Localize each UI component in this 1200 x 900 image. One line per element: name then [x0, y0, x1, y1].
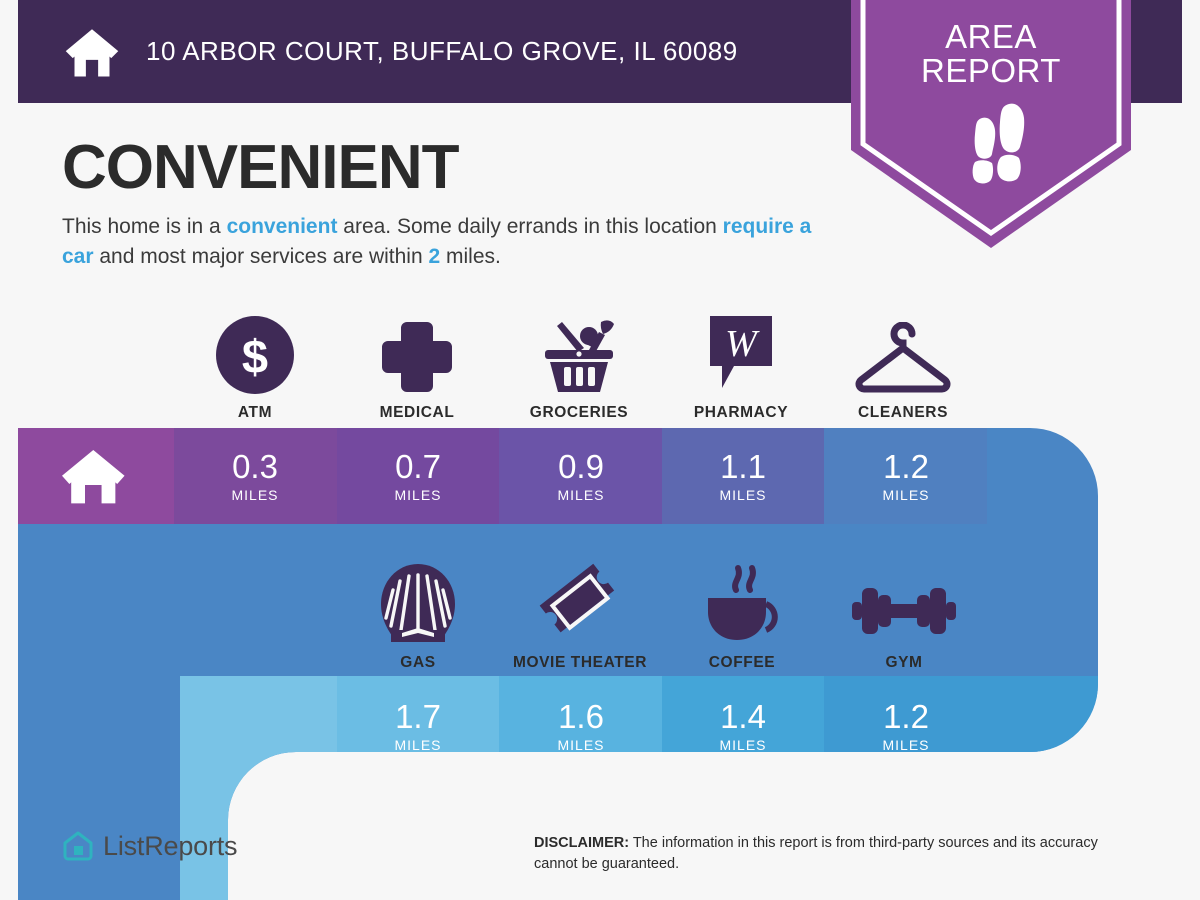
ribbon-seg-groceries	[499, 420, 662, 524]
service-gas[interactable]: GAS	[337, 560, 499, 672]
service-movie-theater[interactable]: MOVIE THEATER	[499, 560, 661, 672]
medical-cross-icon	[380, 310, 454, 394]
home-icon	[64, 24, 120, 80]
service-coffee[interactable]: COFFEE	[661, 560, 823, 672]
service-label: CLEANERS	[858, 404, 948, 422]
desc-part2: area. Some daily errands in this locatio…	[337, 215, 722, 238]
disclaimer-label: DISCLAIMER:	[534, 835, 629, 851]
atm-dollar-icon: $	[216, 310, 294, 394]
service-label: GROCERIES	[530, 404, 628, 422]
ribbon-seg-atm	[174, 420, 337, 524]
grocery-basket-icon	[537, 310, 621, 394]
desc-part4: miles.	[440, 245, 501, 268]
services-icon-row-2: GAS MOVIE THEATER	[337, 560, 985, 672]
badge-title-line1: AREA	[851, 20, 1131, 54]
shell-gas-icon	[379, 560, 457, 644]
service-label: MOVIE THEATER	[513, 654, 647, 672]
ribbon-seg-coffee	[662, 676, 824, 786]
service-label: GAS	[400, 654, 435, 672]
page-title: CONVENIENT	[62, 132, 458, 203]
ribbon-seg-turn-left	[180, 676, 337, 786]
ribbon-seg-medical	[337, 420, 499, 524]
service-pharmacy[interactable]: W PHARMACY	[660, 310, 822, 422]
badge-title-line2: REPORT	[851, 54, 1131, 88]
pharmacy-w-icon: W	[708, 310, 774, 394]
ribbon-seg-pharmacy	[662, 420, 824, 524]
desc-highlight-miles: 2	[429, 245, 441, 268]
listreports-logo-icon	[62, 830, 94, 862]
desc-part1: This home is in a	[62, 215, 227, 238]
service-label: COFFEE	[709, 654, 775, 672]
service-groceries[interactable]: GROCERIES	[498, 310, 660, 422]
brand-name: ListReports	[103, 831, 237, 862]
dumbbell-icon	[852, 560, 956, 644]
ribbon-seg-gym-b	[824, 676, 987, 786]
services-icon-row-1: $ ATM MEDICAL	[174, 310, 984, 422]
service-cleaners[interactable]: CLEANERS	[822, 310, 984, 422]
description-text: This home is in a convenient area. Some …	[62, 212, 822, 272]
area-report-page: 10 ARBOR COURT, BUFFALO GROVE, IL 60089 …	[0, 0, 1200, 900]
service-label: ATM	[238, 404, 272, 422]
clothes-hanger-icon	[851, 310, 955, 394]
badge-title: AREA REPORT	[851, 20, 1131, 87]
service-gym[interactable]: GYM	[823, 560, 985, 672]
ribbon-seg-movie	[499, 676, 662, 786]
coffee-cup-icon	[702, 560, 782, 644]
service-label: PHARMACY	[694, 404, 788, 422]
svg-text:W: W	[725, 323, 760, 365]
svg-text:$: $	[242, 330, 268, 383]
desc-part3: and most major services are within	[94, 245, 429, 268]
movie-ticket-icon	[538, 560, 622, 644]
area-report-badge: AREA REPORT	[851, 0, 1131, 248]
service-label: GYM	[885, 654, 922, 672]
disclaimer: DISCLAIMER: The information in this repo…	[534, 833, 1134, 874]
brand-logo[interactable]: ListReports	[62, 830, 237, 862]
service-medical[interactable]: MEDICAL	[336, 310, 498, 422]
ribbon-seg-cleaners	[824, 420, 987, 524]
desc-highlight-convenient: convenient	[227, 215, 338, 238]
service-label: MEDICAL	[380, 404, 455, 422]
ribbon-seg-gas	[337, 676, 499, 786]
service-atm[interactable]: $ ATM	[174, 310, 336, 422]
property-address: 10 ARBOR COURT, BUFFALO GROVE, IL 60089	[146, 36, 738, 67]
